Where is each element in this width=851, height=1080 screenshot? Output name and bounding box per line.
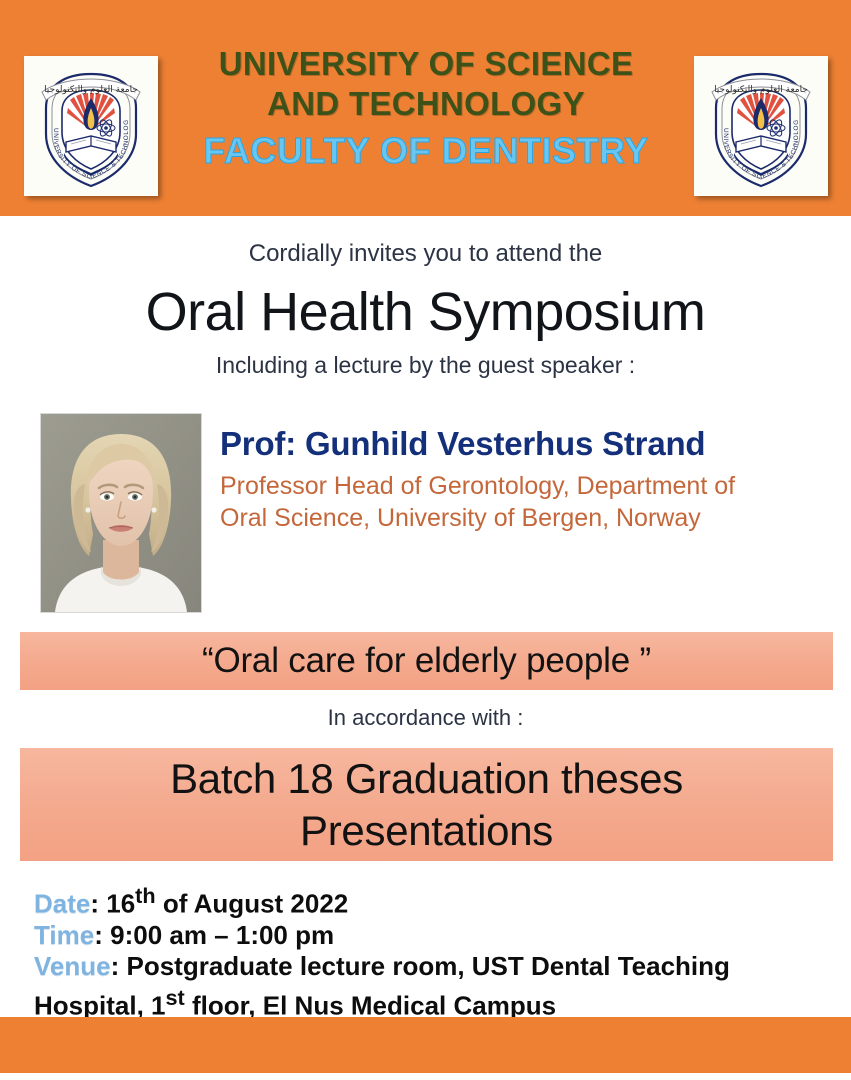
venue-value-rest: floor, El Nus Medical Campus (185, 990, 556, 1020)
lecture-topic-text: “Oral care for elderly people ” (202, 641, 651, 681)
speaker-affiliation-line-2: Oral Science, University of Bergen, Norw… (220, 502, 820, 534)
time-label: Time (34, 920, 94, 950)
svg-text:جامعة العلوم والتكنولوجيا: جامعة العلوم والتكنولوجيا (714, 85, 808, 95)
venue-label: Venue (34, 951, 111, 981)
lecture-topic-banner: “Oral care for elderly people ” (20, 632, 833, 690)
event-title: Oral Health Symposium (0, 282, 851, 342)
date-separator: : (90, 889, 106, 919)
invitation-poster: جامعة العلوم والتكنولوجيا UNIVERSITY OF … (0, 0, 851, 1080)
speaker-affiliation: Professor Head of Gerontology, Departmen… (220, 470, 820, 534)
guest-speaker-intro: Including a lecture by the guest speaker… (0, 352, 851, 379)
time-separator: : (94, 920, 110, 950)
university-crest-icon: جامعة العلوم والتكنولوجيا UNIVERSITY OF … (694, 56, 828, 196)
venue-value-ordinal: st (165, 985, 184, 1010)
speaker-details: Prof: Gunhild Vesterhus Strand Professor… (220, 424, 820, 534)
university-logo-right: جامعة العلوم والتكنولوجيا UNIVERSITY OF … (694, 56, 828, 196)
detail-row-venue: Venue: Postgraduate lecture room, UST De… (34, 951, 834, 1022)
venue-separator: : (111, 951, 127, 981)
program-banner: Batch 18 Graduation theses Presentations (20, 748, 833, 861)
footer-band (0, 1017, 851, 1073)
header-band: جامعة العلوم والتكنولوجيا UNIVERSITY OF … (0, 0, 851, 216)
faculty-name: FACULTY OF DENTISTRY (170, 130, 682, 172)
svg-text:جامعة العلوم والتكنولوجيا: جامعة العلوم والتكنولوجيا (44, 85, 138, 95)
portrait-image (41, 414, 201, 612)
speaker-affiliation-line-1: Professor Head of Gerontology, Departmen… (220, 470, 820, 502)
university-logo-left: جامعة العلوم والتكنولوجيا UNIVERSITY OF … (24, 56, 158, 196)
date-label: Date (34, 889, 90, 919)
detail-row-date: Date: 16th of August 2022 (34, 880, 834, 920)
event-details: Date: 16th of August 2022 Time: 9:00 am … (34, 880, 834, 1021)
header-title-group: UNIVERSITY OF SCIENCE AND TECHNOLOGY FAC… (170, 44, 682, 172)
speaker-portrait-photo (41, 414, 201, 612)
detail-row-time: Time: 9:00 am – 1:00 pm (34, 920, 834, 951)
university-name-line-2: AND TECHNOLOGY (170, 84, 682, 124)
university-crest-icon: جامعة العلوم والتكنولوجيا UNIVERSITY OF … (24, 56, 158, 196)
university-name-line-1: UNIVERSITY OF SCIENCE (170, 44, 682, 84)
speaker-section: Prof: Gunhild Vesterhus Strand Professor… (0, 414, 851, 614)
speaker-name: Prof: Gunhild Vesterhus Strand (220, 424, 820, 464)
in-accordance-line: In accordance with : (0, 705, 851, 731)
date-value-rest: of August 2022 (156, 889, 349, 919)
date-value-ordinal: th (135, 883, 155, 908)
program-line-2: Presentations (170, 805, 683, 857)
program-line-1: Batch 18 Graduation theses (170, 753, 683, 805)
time-value: 9:00 am – 1:00 pm (110, 920, 334, 950)
date-value-number: 16 (106, 889, 135, 919)
invitation-line: Cordially invites you to attend the (0, 240, 851, 268)
